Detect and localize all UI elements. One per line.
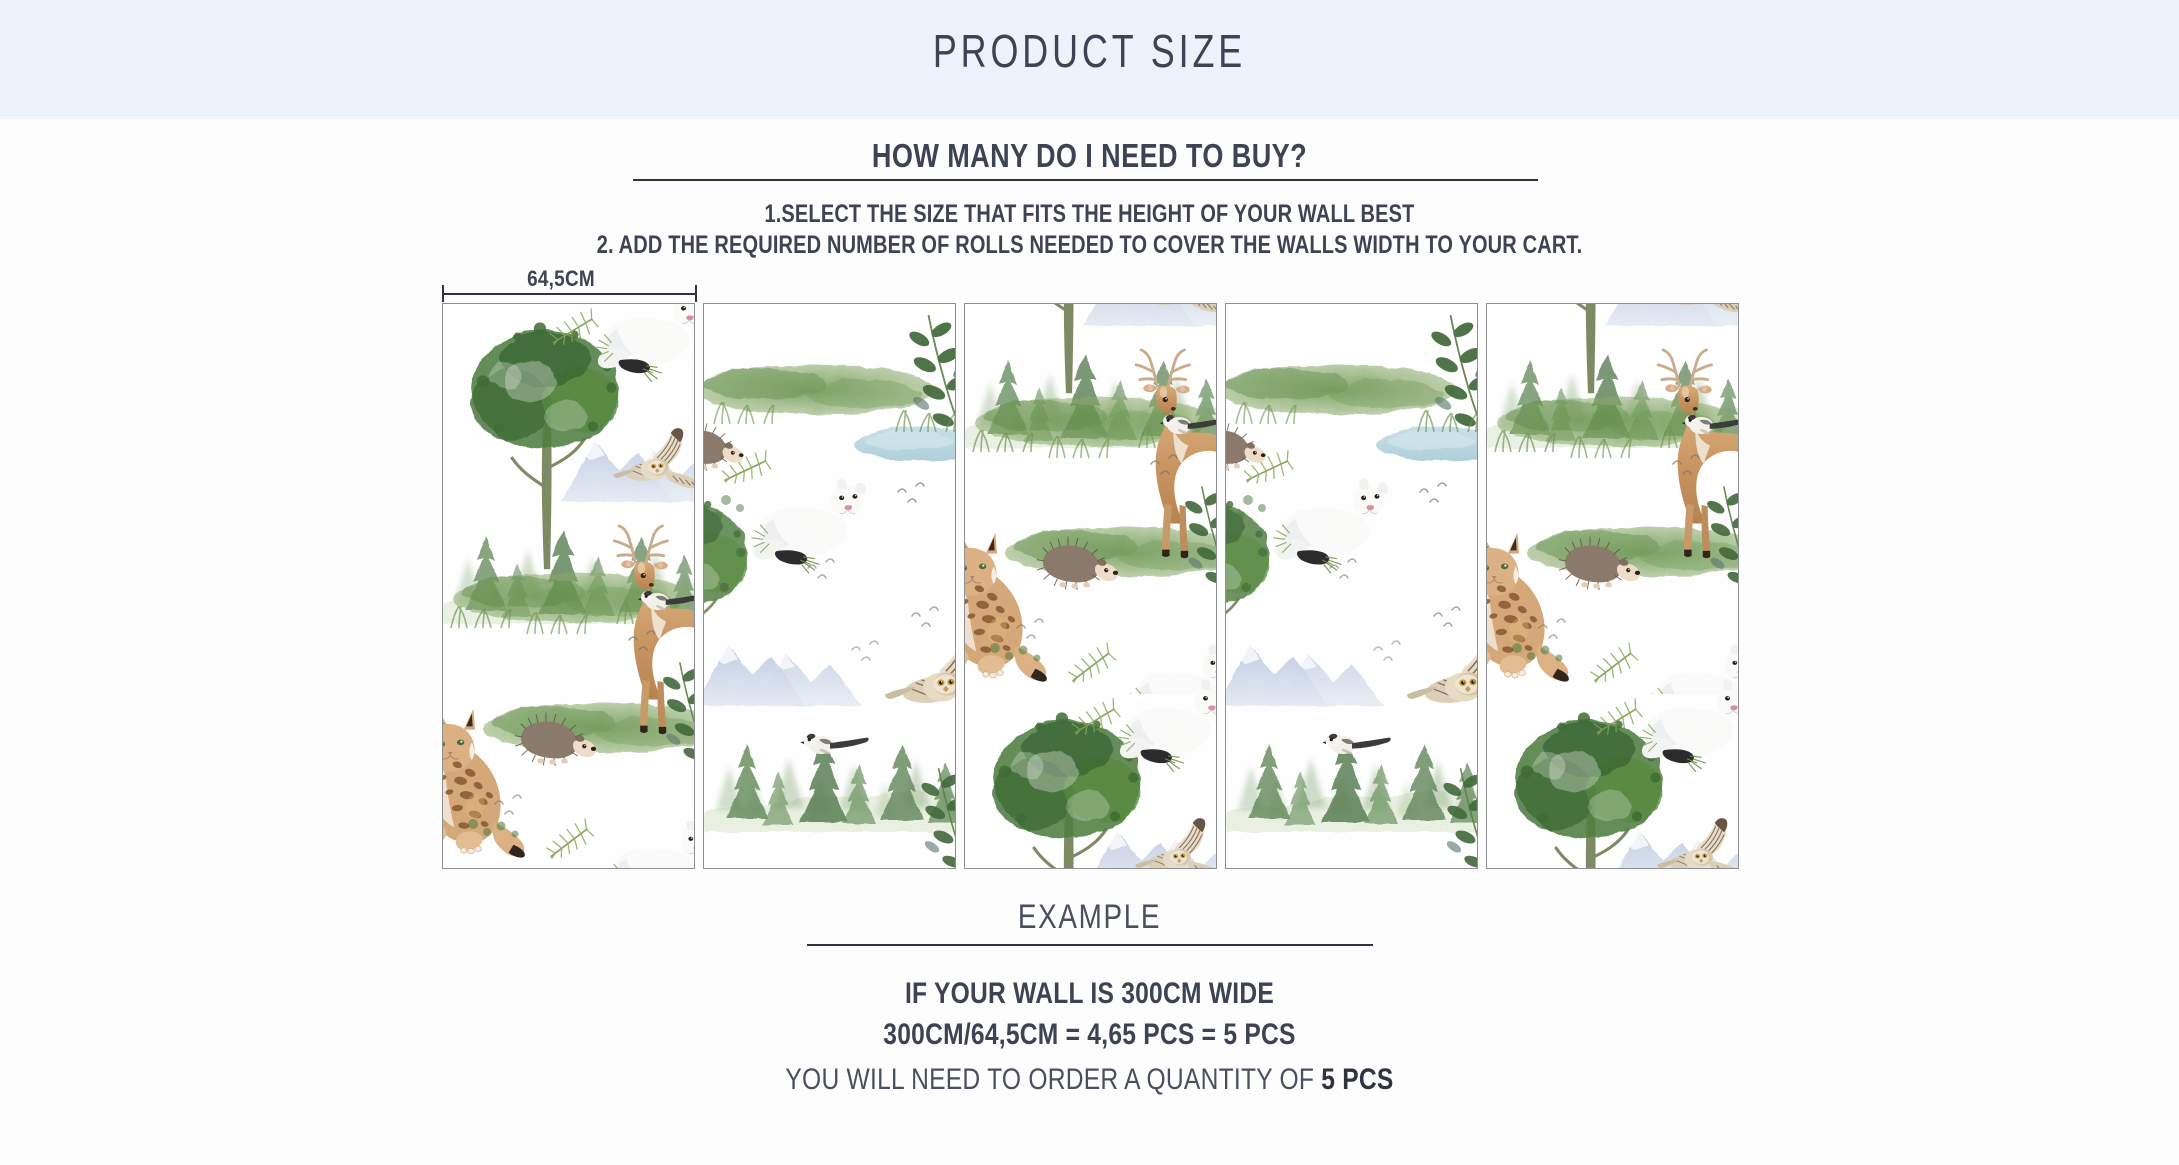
page-title: PRODUCT SIZE (240, 24, 1940, 78)
wallpaper-roll-preview (442, 303, 1739, 869)
dimension-tick-right (695, 285, 697, 302)
instructions-heading: HOW MANY DO I NEED TO BUY? (196, 137, 1983, 175)
example-wall-width: IF YOUR WALL IS 300CM WIDE (196, 977, 1983, 1011)
instruction-step-1: 1.SELECT THE SIZE THAT FITS THE HEIGHT O… (218, 200, 1961, 229)
heading-divider (633, 179, 1538, 181)
roll-panel-1[interactable] (442, 303, 695, 869)
order-quantity-value: 5 PCS (1321, 1063, 1393, 1096)
width-dimension-label: 64,5CM (458, 266, 664, 292)
roll-panel-4[interactable] (1225, 303, 1478, 869)
roll-panel-5[interactable] (1486, 303, 1739, 869)
example-calculation: 300CM/64,5CM = 4,65 PCS = 5 PCS (196, 1018, 1983, 1052)
order-prefix-text: YOU WILL NEED TO ORDER A QUANTITY OF (785, 1063, 1321, 1096)
example-divider (807, 944, 1373, 946)
width-dimension-line (442, 293, 697, 295)
example-order-quantity: YOU WILL NEED TO ORDER A QUANTITY OF 5 P… (196, 1063, 1983, 1097)
dimension-tick-left (442, 285, 444, 302)
roll-panel-2[interactable] (703, 303, 956, 869)
instruction-step-2: 2. ADD THE REQUIRED NUMBER OF ROLLS NEED… (218, 231, 1961, 260)
example-heading: EXAMPLE (196, 898, 1983, 937)
product-size-infographic: PRODUCT SIZE HOW MANY DO I NEED TO BUY? … (0, 0, 2179, 1165)
roll-panel-3[interactable] (964, 303, 1217, 869)
